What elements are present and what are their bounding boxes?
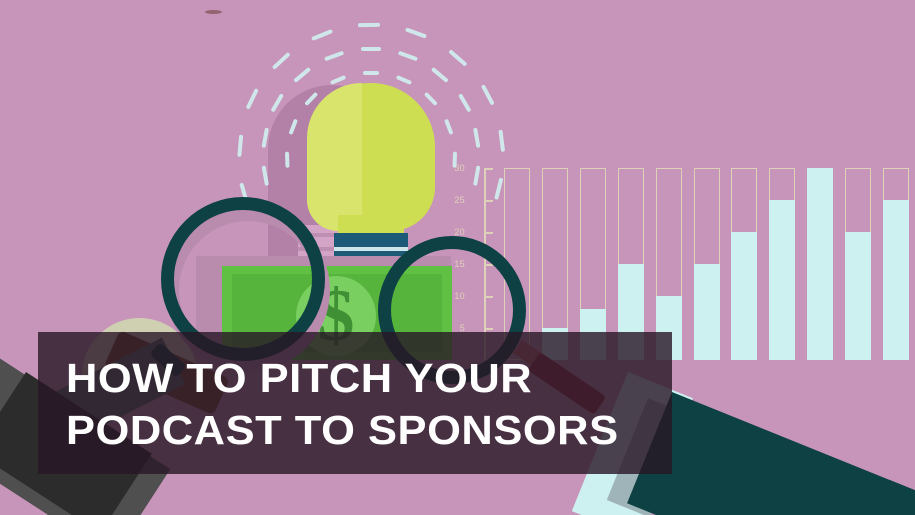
lightbulb-ray: [448, 49, 467, 66]
title-line-1: HOW TO PITCH YOUR: [66, 352, 723, 404]
lightbulb-ray: [453, 152, 457, 168]
chart-bar-fill: [845, 232, 871, 360]
lightbulb-ray: [246, 88, 259, 109]
lightbulb-ray: [474, 166, 481, 186]
lightbulb-ray: [481, 84, 494, 105]
chart-bar: [883, 168, 909, 360]
chart-bar: [731, 168, 757, 360]
lightbulb-ray: [398, 50, 418, 60]
lightbulb-ray: [474, 128, 481, 148]
chart-bar: [807, 168, 833, 360]
chart-tick-mark: [484, 200, 493, 202]
page-title: HOW TO PITCH YOUR PODCAST TO SPONSORS: [66, 352, 686, 456]
chart-bar: [769, 168, 795, 360]
lightbulb-ray: [361, 47, 381, 51]
lightbulb-ray: [445, 119, 454, 135]
lightbulb-ray: [330, 75, 346, 84]
chart-bar: [845, 168, 871, 360]
lightbulb-ray: [425, 92, 439, 106]
decorative-speck: [205, 10, 222, 14]
lightbulb-ray: [396, 75, 412, 84]
chart-tick-mark: [484, 232, 493, 234]
chart-tick-mark: [484, 168, 493, 170]
chart-bar: [694, 168, 720, 360]
lightbulb-ray: [499, 130, 505, 152]
lightbulb-ray: [358, 23, 380, 27]
lightbulb-ray: [324, 50, 344, 60]
title-line-2: PODCAST TO SPONSORS: [66, 404, 723, 456]
chart-bar-fill: [694, 264, 720, 360]
lightbulb-ray: [293, 66, 311, 82]
lightbulb-ray: [363, 71, 379, 75]
lightbulb-ray: [458, 93, 471, 112]
lightbulb-ray: [432, 66, 450, 82]
lightbulb-screw-band: [334, 233, 408, 247]
lightbulb-ray: [272, 52, 290, 70]
lightbulb-ray: [405, 28, 427, 39]
chart-bar-fill: [807, 168, 833, 360]
lightbulb-ray: [237, 134, 242, 156]
lightbulb-ray: [285, 152, 289, 168]
lightbulb-ray: [311, 29, 333, 40]
chart-bar-fill: [883, 200, 909, 360]
chart-bar-fill: [769, 200, 795, 360]
chart-bar-fill: [731, 232, 757, 360]
poster-canvas: 51015202530 $ HOW TO: [0, 0, 915, 515]
